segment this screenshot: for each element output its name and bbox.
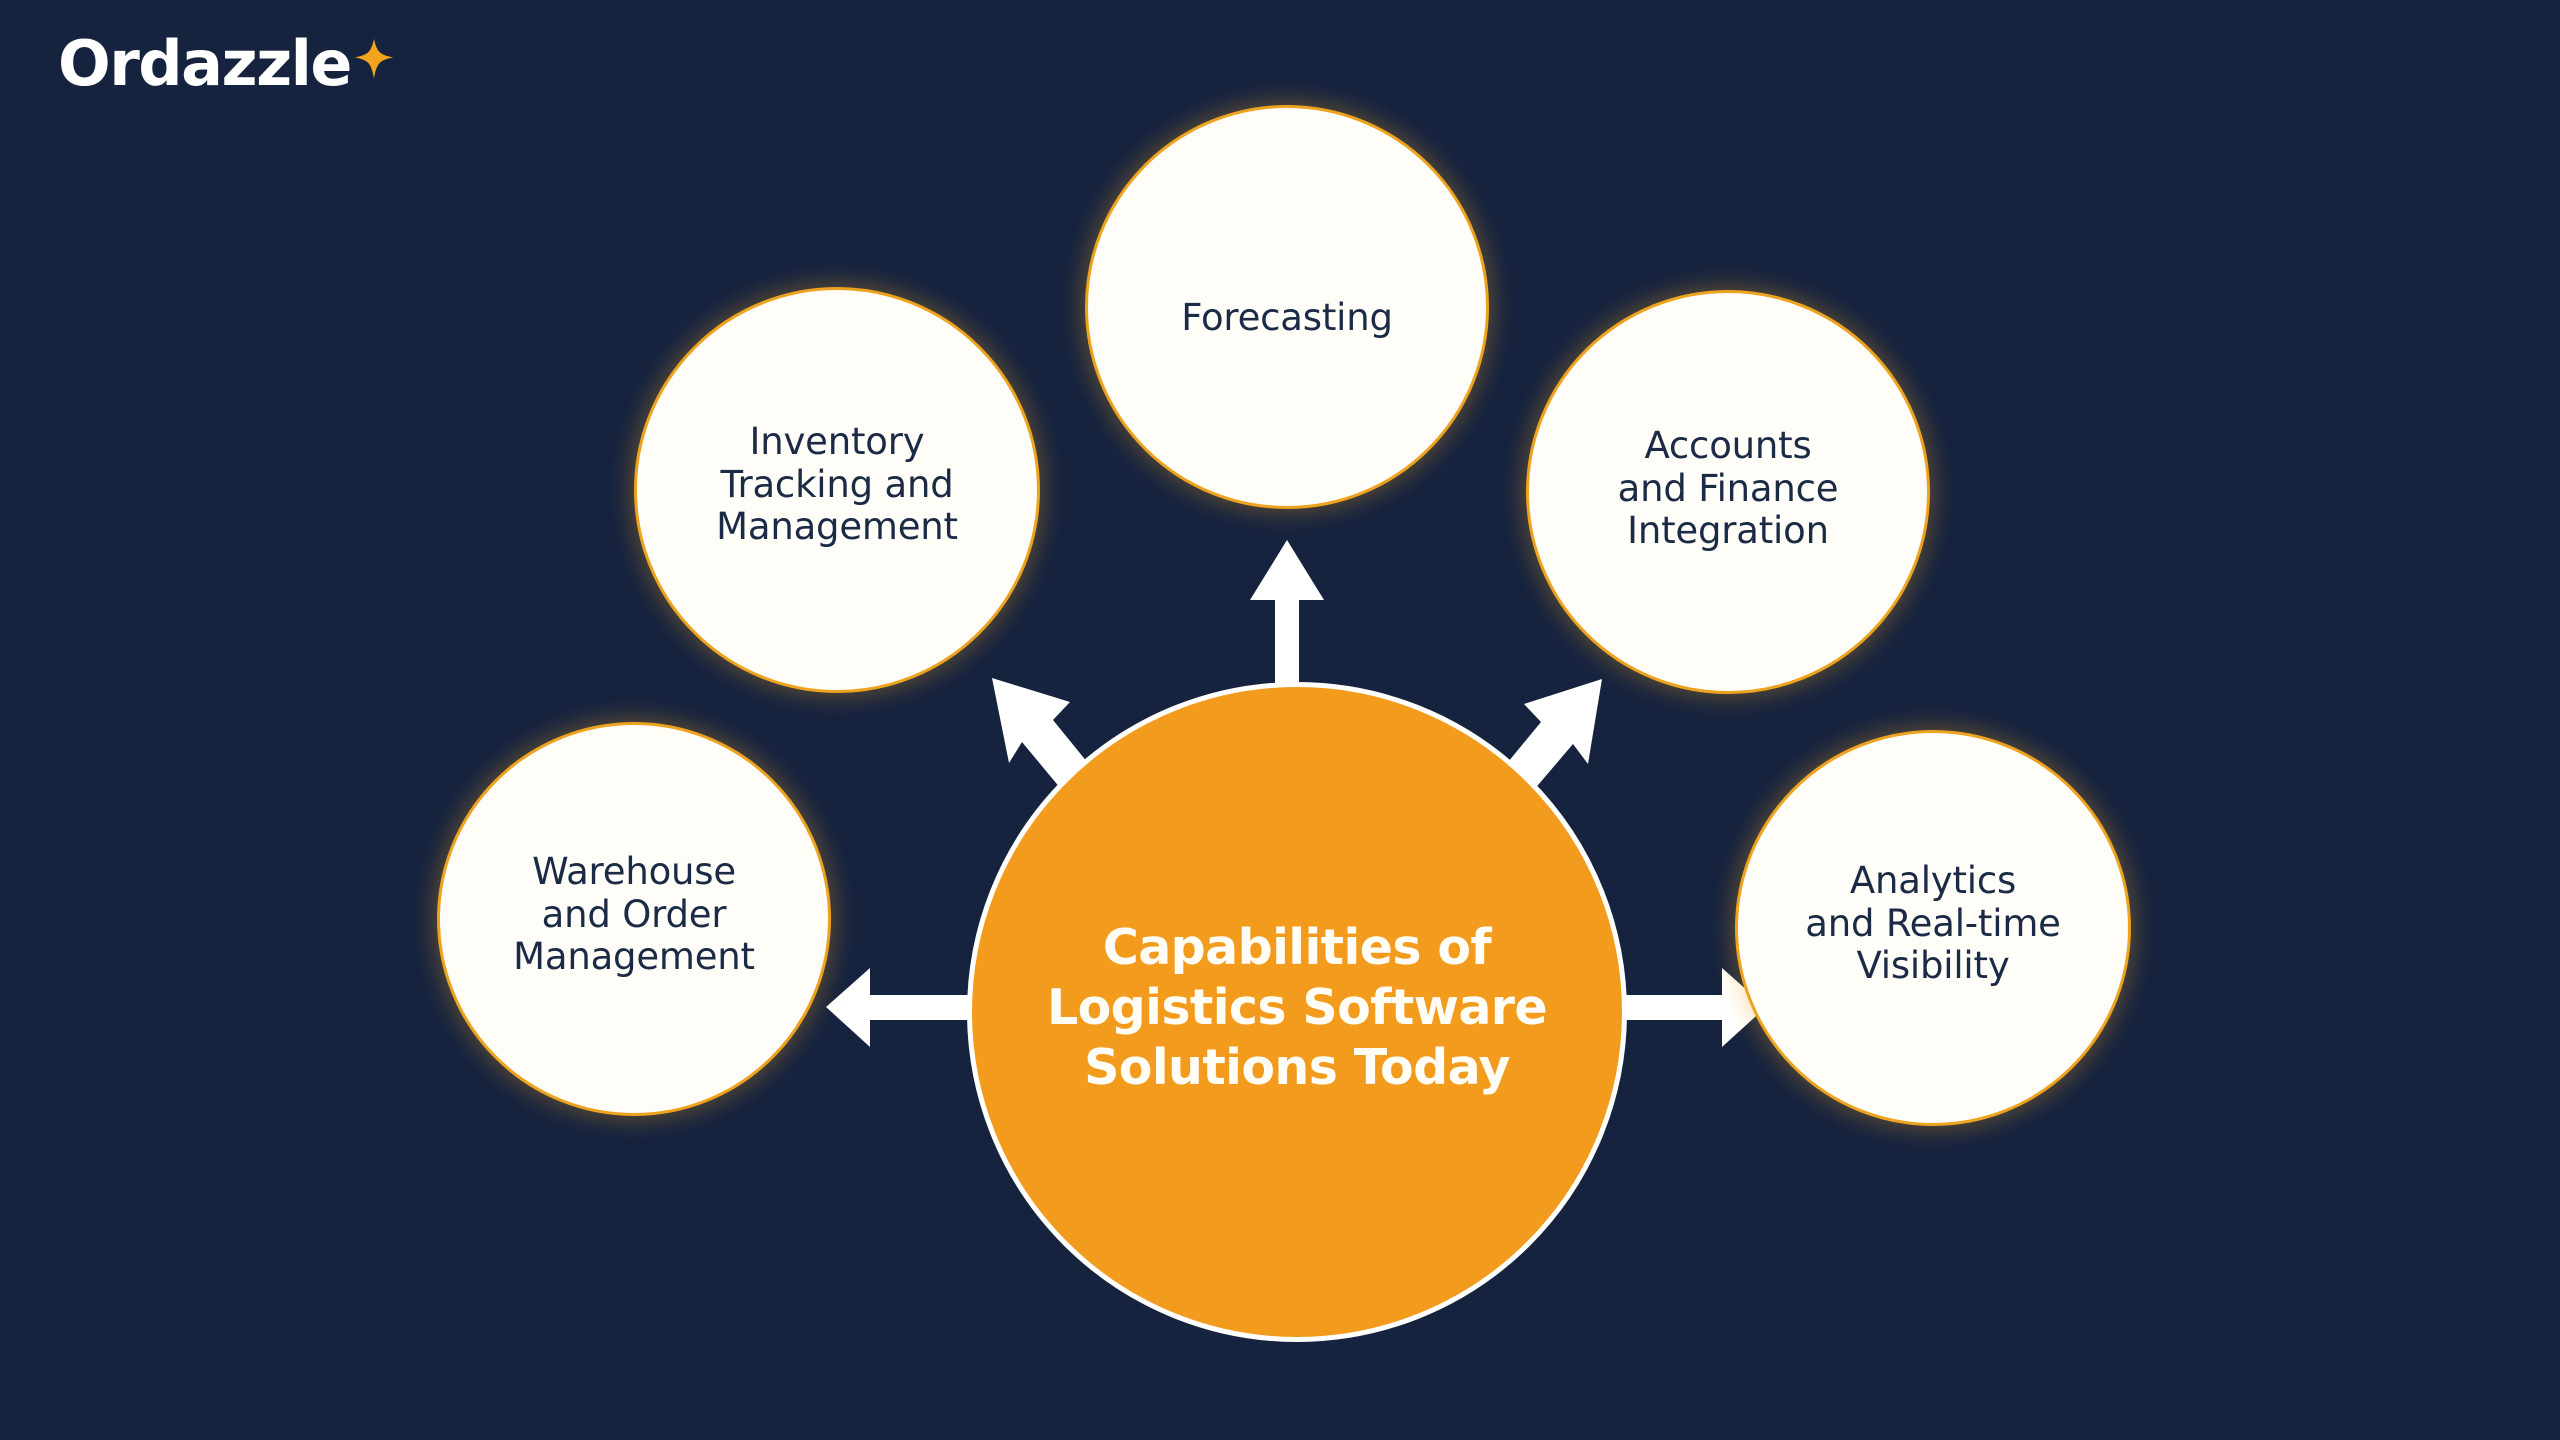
node-inventory-tracking-and-management[interactable]: Inventory Tracking and Management [634,287,1040,693]
node-accounts-label: Accounts and Finance Integration [1596,425,1861,554]
node-warehouse-and-order-management[interactable]: Warehouse and Order Management [437,722,831,1116]
node-warehouse-label: Warehouse and Order Management [491,851,777,980]
center-hub-title: Capabilities of Logistics Software Solut… [1007,918,1587,1097]
center-hub[interactable]: Capabilities of Logistics Software Solut… [967,682,1627,1342]
node-analytics-and-real-time-visibility[interactable]: Analytics and Real-time Visibility [1735,730,2131,1126]
infographic-canvas: Ordazzle [0,0,2560,1440]
arrow-left-to-warehouse [826,968,975,1047]
node-analytics-label: Analytics and Real-time Visibility [1783,860,2082,989]
node-forecasting[interactable]: Forecasting [1085,105,1489,509]
node-forecasting-label: Forecasting [1159,297,1415,340]
node-inventory-label: Inventory Tracking and Management [694,421,980,550]
node-accounts-and-finance-integration[interactable]: Accounts and Finance Integration [1526,290,1930,694]
